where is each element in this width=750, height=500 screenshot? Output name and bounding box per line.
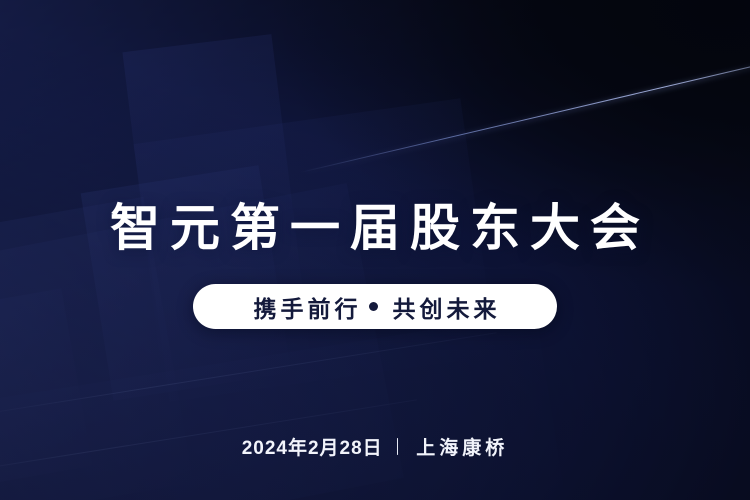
- slogan-right-text: 共创未来: [389, 290, 501, 324]
- slogan-pill: 携手前行 共创未来: [193, 284, 557, 329]
- slogan-left-text: 携手前行: [250, 290, 362, 324]
- poster-content: 智元第一届股东大会 携手前行 共创未来 2024年2月28日 上海康桥: [0, 0, 750, 500]
- poster-title: 智元第一届股东大会: [0, 199, 750, 257]
- vertical-bar-icon: [397, 438, 399, 455]
- event-poster: 智元第一届股东大会 携手前行 共创未来 2024年2月28日 上海康桥: [0, 0, 750, 500]
- slogan-text: 携手前行 共创未来: [250, 290, 501, 324]
- poster-footer: 2024年2月28日 上海康桥: [0, 433, 750, 460]
- event-location: 上海康桥: [412, 433, 508, 460]
- event-date: 2024年2月28日: [242, 433, 383, 460]
- bullet-dot-icon: [369, 302, 378, 311]
